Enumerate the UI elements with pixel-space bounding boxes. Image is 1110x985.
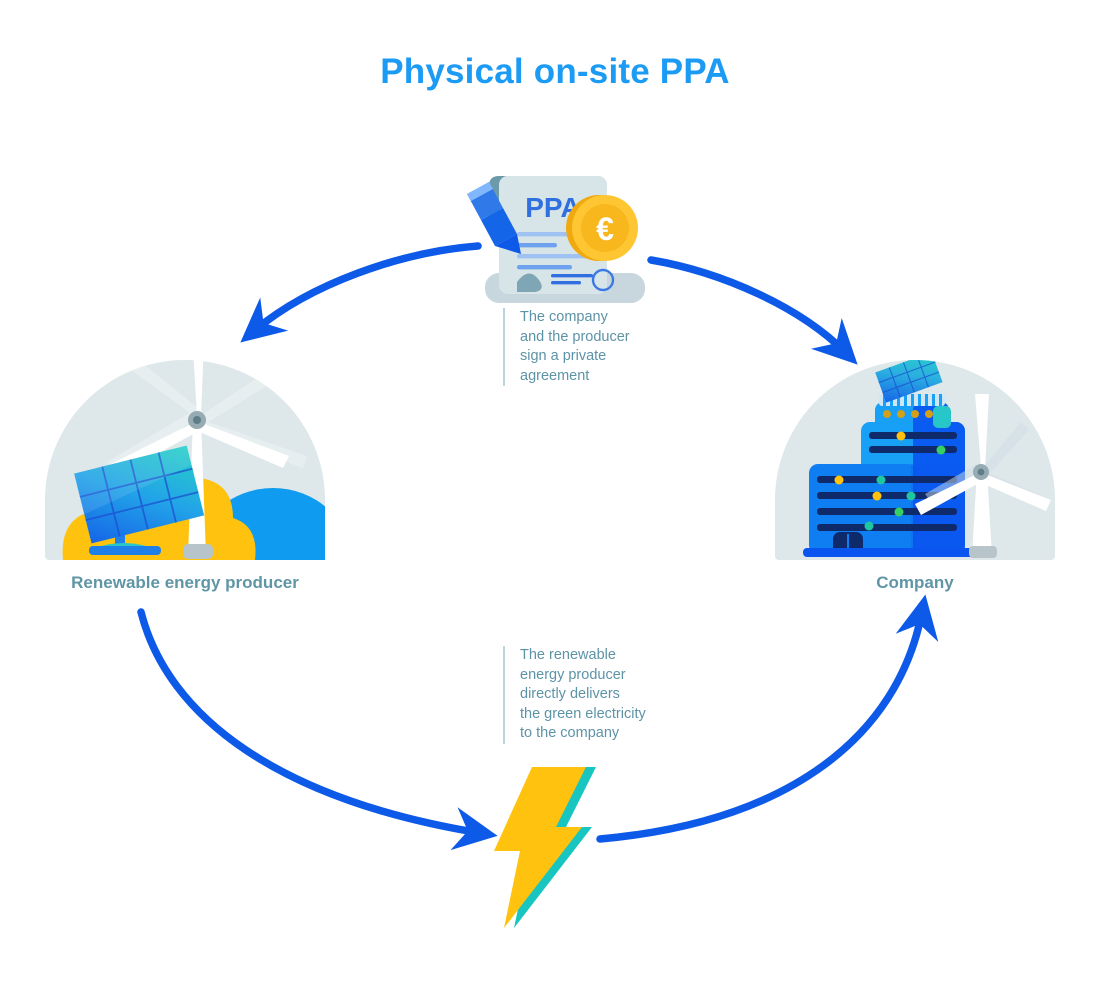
caption-delivery: The renewable energy producer directly d…: [503, 646, 646, 744]
node-company[interactable]: Company: [775, 360, 1055, 593]
arrow-producer-to-energy: [141, 612, 480, 833]
arrow-energy-to-company: [600, 612, 922, 839]
office-building-icon: [775, 360, 1055, 560]
currency-symbol: €: [596, 211, 614, 247]
company-illustration: [775, 360, 1055, 560]
solar-panel-wind-turbine-icon: [45, 360, 325, 560]
node-label-producer: Renewable energy producer: [45, 572, 325, 593]
agreement-icon-group: PPA €: [455, 170, 665, 310]
caption-agreement: The company and the producer sign a priv…: [503, 308, 630, 386]
node-renewable-energy-producer[interactable]: Renewable energy producer: [45, 360, 325, 593]
producer-illustration: [45, 360, 325, 560]
node-label-company: Company: [775, 572, 1055, 593]
diagram-canvas: Physical on-site PPA PPA: [0, 0, 1110, 985]
contract-document-icon: PPA €: [455, 170, 665, 310]
euro-coin-icon: €: [566, 195, 638, 261]
lightning-bolt-icon: [480, 765, 610, 930]
arrow-agreement-to-producer: [254, 246, 478, 331]
energy-flow-node: [480, 765, 610, 930]
arrow-agreement-to-company: [651, 260, 845, 352]
